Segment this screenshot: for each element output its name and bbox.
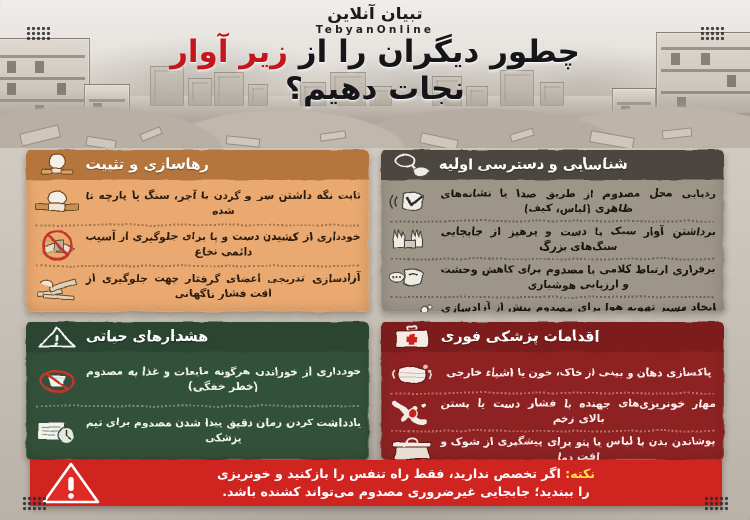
two-hands-lifting-icon — [389, 223, 435, 257]
list-item-text: مهار خونریزی‌های جهنده با فشار دست یا بس… — [441, 397, 716, 427]
divider — [36, 224, 359, 226]
divider — [391, 296, 714, 298]
list-item-text: خودداری از کشیدن دست و پا برای جلوگیری ا… — [86, 230, 361, 260]
brand-logo[interactable]: تبیان آنلاین TebyanOnline — [0, 6, 750, 36]
bandaged-arm-icon — [389, 395, 435, 429]
card-identification-title: شناسایی و دسترسی اولیه — [439, 157, 628, 173]
speaking-hand-icon — [389, 261, 435, 295]
card-medical-body: پاکسازی دهان و بینی از خاک، خون یا اشیاء… — [381, 352, 724, 460]
list-item: برقراری ارتباط کلامی با مصدوم برای کاهش … — [389, 261, 716, 295]
patient-blanket-icon — [389, 433, 435, 460]
list-item: خودداری از کشیدن دست و پا برای جلوگیری ا… — [34, 228, 361, 262]
list-item-text: برقراری ارتباط کلامی با مصدوم برای کاهش … — [441, 263, 716, 293]
list-item-text: ردیابی محل مصدوم از طریق صدا یا نشانه‌ها… — [441, 187, 716, 217]
list-item: مهار خونریزی‌های جهنده با فشار دست یا بس… — [389, 395, 716, 429]
list-item: برداشتن آوار سبک با دست و پرهیز از جابجا… — [389, 223, 716, 257]
card-release[interactable]: رهاسازی و تثبیت ثابت نگه داشتن سر و گردن… — [26, 150, 369, 312]
warning-exclamation-icon — [42, 461, 100, 505]
card-medical[interactable]: اقدامات پزشکی فوری پاکسازی دهان و بینی ا… — [381, 322, 724, 460]
warning-triangle-icon — [36, 324, 78, 350]
list-item-text: پوشاندن بدن با لباس یا پتو برای پیشگیری … — [441, 435, 716, 460]
list-item-text: پاکسازی دهان و بینی از خاک، خون یا اشیاء… — [441, 366, 716, 381]
notepad-clock-icon — [34, 414, 80, 448]
note-line2: را ببندید؛ جابجایی غیرضروری مصدوم می‌توا… — [100, 483, 712, 501]
listening-ear-icon — [389, 185, 435, 219]
divider — [391, 392, 714, 394]
list-item-text: یادداشت کردن زمان دقیق پیدا شدن مصدوم بر… — [86, 416, 361, 446]
divider — [36, 405, 359, 407]
card-identification-header: شناسایی و دسترسی اولیه — [381, 150, 724, 180]
magnifier-hand-icon — [391, 152, 431, 178]
list-item: یادداشت کردن زمان دقیق پیدا شدن مصدوم بر… — [34, 414, 361, 448]
list-item: ردیابی محل مصدوم از طریق صدا یا نشانه‌ها… — [389, 185, 716, 219]
no-drink-icon — [34, 363, 80, 397]
list-item-text: خودداری از خوراندن هرگونه مایعات و غذا ب… — [86, 365, 361, 395]
card-release-title: رهاسازی و تثبیت — [86, 157, 209, 173]
list-item-text: برداشتن آوار سبک با دست و پرهیز از جابجا… — [441, 225, 716, 255]
card-warnings[interactable]: هشدارهای حیاتی خودداری از خوراندن هرگونه… — [26, 322, 369, 460]
card-medical-header: اقدامات پزشکی فوری — [381, 322, 724, 352]
title-highlight: زیر آوار — [170, 34, 288, 70]
corner-dots-top-left-icon — [26, 26, 50, 42]
airway-tube-icon — [389, 299, 435, 312]
divider — [391, 258, 714, 260]
title-line2: نجات دهیم؟ — [0, 71, 750, 108]
note-line1: اگر تخصص ندارید، فقط راه تنفس را بازکنید… — [217, 466, 565, 481]
list-item: آزادسازی تدریجی اعضای گرفتار جهت جلوگیری… — [34, 270, 361, 304]
corner-dots-top-right-icon — [700, 26, 724, 42]
list-item-text: آزادسازی تدریجی اعضای گرفتار جهت جلوگیری… — [86, 272, 361, 302]
list-item: خودداری از خوراندن هرگونه مایعات و غذا ب… — [34, 363, 361, 397]
card-warnings-title: هشدارهای حیاتی — [86, 329, 208, 345]
note-text: نکته: اگر تخصص ندارید، فقط راه تنفس را ب… — [100, 465, 718, 502]
list-item: ثابت نگه داشتن سر و گردن با آجر، سنگ یا … — [34, 187, 361, 221]
note-bar: نکته: اگر تخصص ندارید، فقط راه تنفس را ب… — [30, 460, 722, 506]
list-item-text: ایجاد مسیر تهویه هوا برای مصدوم پیش از آ… — [441, 301, 716, 312]
face-mask-icon — [389, 357, 435, 391]
list-item: پاکسازی دهان و بینی از خاک، خون یا اشیاء… — [389, 357, 716, 391]
card-release-body: ثابت نگه داشتن سر و گردن با آجر، سنگ یا … — [26, 180, 369, 312]
corner-dots-bottom-left-icon — [22, 496, 46, 512]
card-identification-body: ردیابی محل مصدوم از طریق صدا یا نشانه‌ها… — [381, 180, 724, 312]
divider — [391, 220, 714, 222]
brand-name-fa: تبیان آنلاین — [0, 6, 750, 23]
list-item: ایجاد مسیر تهویه هوا برای مصدوم پیش از آ… — [389, 299, 716, 312]
no-pulling-limb-icon — [34, 228, 80, 262]
infographic-poster: تبیان آنلاین TebyanOnline چطور دیگران را… — [0, 0, 750, 520]
card-identification[interactable]: شناسایی و دسترسی اولیه ردیابی محل مصدوم … — [381, 150, 724, 312]
debris-removal-icon — [34, 270, 80, 304]
page-title: چطور دیگران را از زیر آوار نجات دهیم؟ — [0, 34, 750, 107]
card-release-header: رهاسازی و تثبیت — [26, 150, 369, 180]
list-item: پوشاندن بدن با لباس یا پتو برای پیشگیری … — [389, 433, 716, 460]
divider — [391, 430, 714, 432]
title-line1-before: چطور دیگران را از — [288, 34, 580, 70]
card-medical-title: اقدامات پزشکی فوری — [441, 329, 600, 345]
card-warnings-header: هشدارهای حیاتی — [26, 322, 369, 352]
divider — [36, 265, 359, 267]
card-warnings-body: خودداری از خوراندن هرگونه مایعات و غذا ب… — [26, 352, 369, 460]
head-immobilize-icon — [36, 151, 78, 179]
first-aid-kit-icon — [391, 324, 433, 351]
cards-grid: شناسایی و دسترسی اولیه ردیابی محل مصدوم … — [26, 150, 724, 460]
hero-banner: تبیان آنلاین TebyanOnline چطور دیگران را… — [0, 0, 750, 148]
corner-dots-bottom-right-icon — [704, 496, 728, 512]
list-item-text: ثابت نگه داشتن سر و گردن با آجر، سنگ یا … — [86, 189, 361, 219]
note-lead-label: نکته: — [565, 466, 595, 481]
neck-brace-icon — [34, 187, 80, 221]
